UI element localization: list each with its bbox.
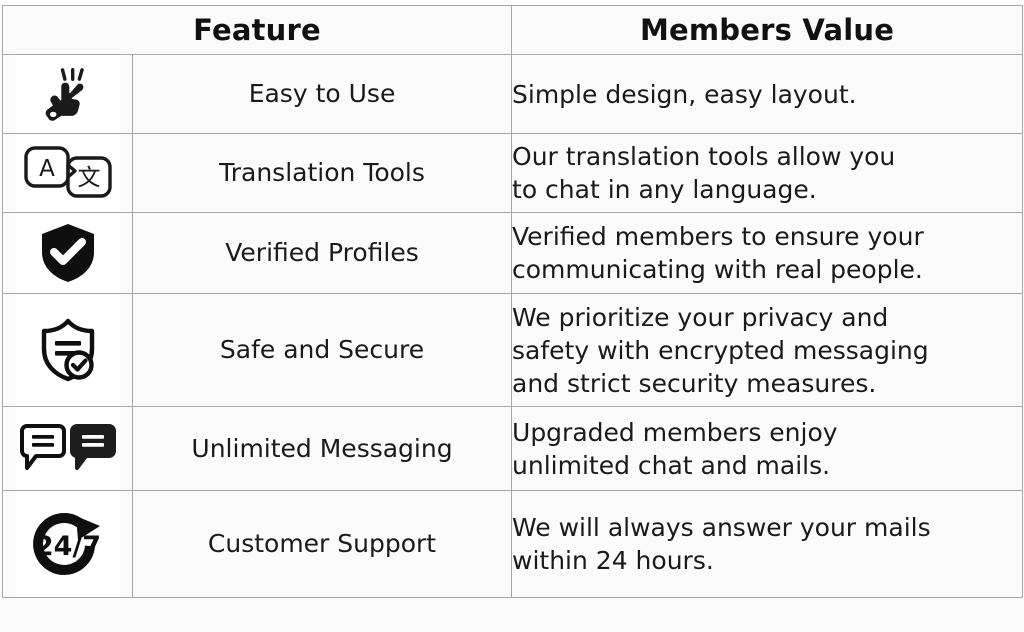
feature-label: Unlimited Messaging <box>133 407 512 491</box>
value-line: Upgraded members enjoy <box>512 416 1022 449</box>
table-row: A 文 Translation Tools Our translation to… <box>3 134 1023 213</box>
feature-label: Easy to Use <box>133 55 512 134</box>
feature-value-cell: Upgraded members enjoy unlimited chat an… <box>512 407 1023 491</box>
chat-bubbles-icon <box>16 407 120 490</box>
feature-label: Translation Tools <box>133 134 512 213</box>
feature-icon-cell <box>3 55 133 134</box>
feature-icon-cell: A 文 <box>3 134 133 213</box>
column-header-feature: Feature <box>3 6 512 55</box>
feature-icon-cell <box>3 294 133 407</box>
value-line: We will always answer your mails <box>512 511 1022 544</box>
table-row: Verified Profiles Verified members to en… <box>3 213 1023 294</box>
translate-target-letter: 文 <box>77 165 100 191</box>
feature-value-cell: Verified members to ensure your communic… <box>512 213 1023 294</box>
shield-check-filled-icon <box>16 213 120 293</box>
feature-label: Verified Profiles <box>133 213 512 294</box>
header-row: Feature Members Value <box>3 6 1023 55</box>
column-header-members-value: Members Value <box>512 6 1023 55</box>
value-line: We prioritize your privacy and <box>512 301 1022 334</box>
value-line: unlimited chat and mails. <box>512 449 1022 482</box>
feature-icon-cell: 24/7 <box>3 491 133 598</box>
table-row: Safe and Secure We prioritize your priva… <box>3 294 1023 407</box>
feature-value-cell: We prioritize your privacy and safety wi… <box>512 294 1023 407</box>
support-hours-text: 24/7 <box>34 531 100 562</box>
feature-icon-cell <box>3 213 133 294</box>
translate-source-letter: A <box>39 156 55 182</box>
value-line: within 24 hours. <box>512 544 1022 577</box>
feature-label: Safe and Secure <box>133 294 512 407</box>
table-row: Easy to Use Simple design, easy layout. <box>3 55 1023 134</box>
feature-value-cell: Our translation tools allow you to chat … <box>512 134 1023 213</box>
feature-comparison-table: Feature Members Value <box>2 5 1023 598</box>
value-line: to chat in any language. <box>512 173 1022 206</box>
feature-icon-cell <box>3 407 133 491</box>
value-line: Our translation tools allow you <box>512 140 1022 173</box>
translate-icon: A 文 <box>16 134 120 212</box>
table-row: 24/7 Customer Support We will always ans… <box>3 491 1023 598</box>
value-line: communicating with real people. <box>512 253 1022 286</box>
shield-secure-outline-icon <box>16 294 120 406</box>
value-line: safety with encrypted messaging <box>512 334 1022 367</box>
value-line: Simple design, easy layout. <box>512 78 1022 111</box>
feature-value-cell: Simple design, easy layout. <box>512 55 1023 134</box>
click-hand-icon <box>16 55 120 133</box>
table-header: Feature Members Value <box>3 6 1023 55</box>
table-row: Unlimited Messaging Upgraded members enj… <box>3 407 1023 491</box>
feature-value-cell: We will always answer your mails within … <box>512 491 1023 598</box>
value-line: and strict security measures. <box>512 367 1022 400</box>
support-24-7-icon: 24/7 <box>16 491 120 597</box>
value-line: Verified members to ensure your <box>512 220 1022 253</box>
table-body: Easy to Use Simple design, easy layout. <box>3 55 1023 598</box>
feature-comparison-table-container: Feature Members Value <box>0 5 1024 632</box>
feature-label: Customer Support <box>133 491 512 598</box>
